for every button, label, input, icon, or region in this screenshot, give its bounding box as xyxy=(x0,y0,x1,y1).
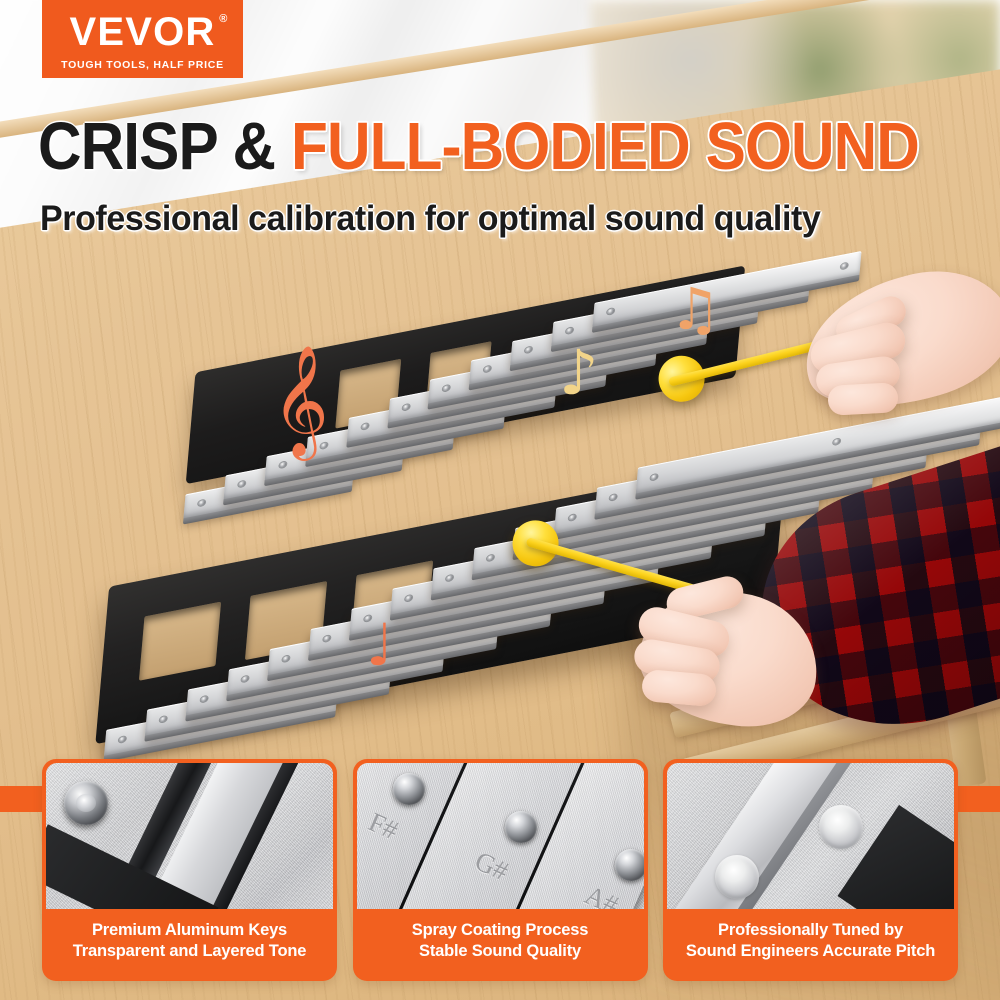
bar-screw xyxy=(569,514,576,521)
hand-lower xyxy=(632,560,882,750)
bar-screw xyxy=(402,404,409,411)
bar-screw xyxy=(279,462,286,469)
caption-line-2: Sound Engineers Accurate Pitch xyxy=(686,941,935,962)
card-caption: Premium Aluminum Keys Transparent and La… xyxy=(46,909,333,977)
card-photo-aluminum-keys xyxy=(46,763,333,909)
feature-card-professionally-tuned[interactable]: Professionally Tuned by Sound Engineers … xyxy=(663,759,958,981)
bar-screw xyxy=(241,676,248,683)
caption-line-2: Stable Sound Quality xyxy=(419,941,581,962)
bar-screw xyxy=(607,308,614,315)
page-subtitle: Professional calibration for optimal sou… xyxy=(40,199,913,239)
bar-screw xyxy=(610,494,617,501)
hand-upper xyxy=(782,278,1000,428)
caption-line-1: Spray Coating Process xyxy=(412,920,588,941)
vevor-logo-badge: VEVOR® TOUGH TOOLS, HALF PRICE xyxy=(42,0,243,78)
bar-screw xyxy=(443,385,450,392)
eighth-note-icon: ♪ xyxy=(559,342,599,404)
card-caption: Professionally Tuned by Sound Engineers … xyxy=(667,909,954,977)
caption-line-1: Professionally Tuned by xyxy=(718,920,903,941)
mounting-screw xyxy=(64,781,108,825)
card-photo-tuned-keys xyxy=(667,763,954,909)
treble-clef-icon: 𝄞 xyxy=(272,352,329,448)
mounting-screw xyxy=(615,849,644,881)
brand-tagline: TOUGH TOOLS, HALF PRICE xyxy=(61,59,224,71)
caption-line-2: Transparent and Layered Tone xyxy=(73,941,306,962)
card-caption: Spray Coating Process Stable Sound Quali… xyxy=(357,909,644,977)
card-photo-engraved-keys: F# G# A# xyxy=(357,763,644,909)
bar-screw xyxy=(119,736,126,743)
bar-screw xyxy=(405,595,412,602)
feature-card-premium-aluminum-keys[interactable]: Premium Aluminum Keys Transparent and La… xyxy=(42,759,337,981)
beamed-notes-icon: ♫ xyxy=(669,280,721,338)
brand-name: VEVOR® xyxy=(69,12,215,52)
bar-screw xyxy=(484,366,491,373)
bar-screw xyxy=(650,474,657,481)
feature-card-spray-coating-process[interactable]: F# G# A# Spray Coating Process Stable So… xyxy=(353,759,648,981)
bar-screw xyxy=(198,500,205,507)
bar-screw xyxy=(487,555,494,562)
registered-mark-icon: ® xyxy=(219,14,228,25)
mounting-screw xyxy=(393,773,425,805)
bar-screw xyxy=(282,656,289,663)
bar-screw xyxy=(446,575,453,582)
bar-screw xyxy=(238,481,245,488)
bar-screw xyxy=(566,327,573,334)
finger xyxy=(827,382,898,416)
bar-screw xyxy=(200,696,207,703)
bar-screw xyxy=(361,423,368,430)
headline-dark-part: CRISP & xyxy=(38,109,291,184)
mounting-screw xyxy=(505,811,537,843)
caption-line-1: Premium Aluminum Keys xyxy=(92,920,287,941)
finger xyxy=(641,669,718,707)
screw-hole xyxy=(819,805,863,849)
bar-screw xyxy=(840,263,847,270)
bar-screw xyxy=(323,635,330,642)
product-banner: 𝄞 ♪ ♫ ♩ VEVOR® TOUGH TOOLS, HALF PRICE C… xyxy=(0,0,1000,1000)
page-title: CRISP & FULL-BODIED SOUND xyxy=(38,108,866,185)
bar-screw xyxy=(160,716,167,723)
bar-screw xyxy=(833,439,840,446)
headline-orange-part: FULL-BODIED SOUND xyxy=(291,109,919,184)
bar-screw xyxy=(525,347,532,354)
quarter-note-icon: ♩ xyxy=(366,616,393,674)
feature-card-row: Premium Aluminum Keys Transparent and La… xyxy=(42,759,958,981)
screw-hole xyxy=(715,855,759,899)
